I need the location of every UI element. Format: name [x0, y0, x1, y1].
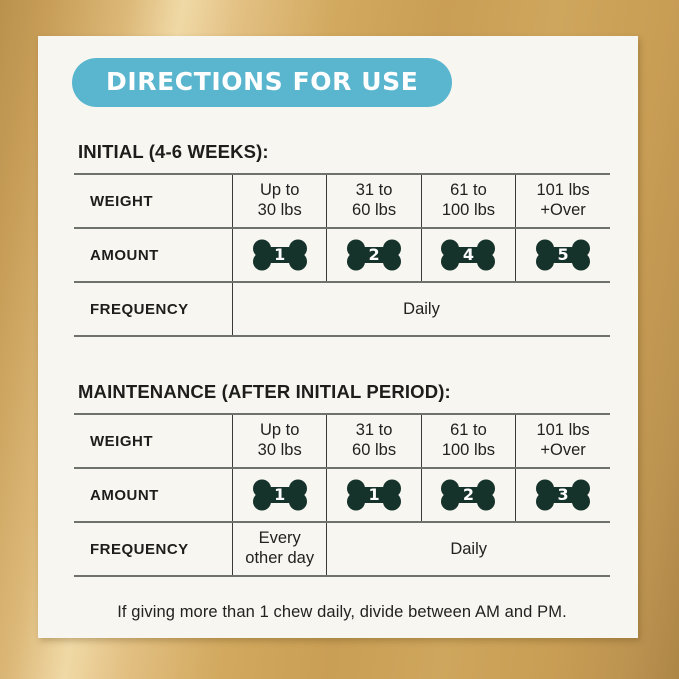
amount-cell-3: 4 — [421, 228, 515, 282]
row-label-amount: AMOUNT — [74, 228, 233, 282]
frequency-cell-rest: Daily — [327, 522, 610, 576]
weight-cell-4-line2: +Over — [516, 201, 610, 221]
table-row-weight: WEIGHT Up to 30 lbs 31 to 60 lbs 61 to 1… — [74, 414, 610, 468]
amount-cell-1: 1 — [233, 228, 327, 282]
weight-cell-2: 31 to 60 lbs — [327, 414, 421, 468]
amount-cell-2: 1 — [327, 468, 421, 522]
row-label-weight: WEIGHT — [74, 174, 233, 228]
bone-icon: 3 — [535, 479, 591, 511]
weight-cell-1: Up to 30 lbs — [233, 174, 327, 228]
amount-cell-2: 2 — [327, 228, 421, 282]
weight-cell-3-line2: 100 lbs — [422, 201, 515, 221]
weight-cell-2-line1: 31 to — [327, 181, 420, 201]
amount-cell-4: 5 — [516, 228, 610, 282]
frequency-cell-1-line1: Every — [233, 529, 326, 549]
dosing-table-initial: WEIGHT Up to 30 lbs 31 to 60 lbs 61 to 1… — [74, 173, 610, 337]
weight-cell-3: 61 to 100 lbs — [421, 174, 515, 228]
bone-icon: 1 — [346, 479, 402, 511]
amount-cell-4: 3 — [516, 468, 610, 522]
bone-icon: 2 — [346, 239, 402, 271]
bone-icon: 1 — [252, 479, 308, 511]
frequency-cell-all: Daily — [233, 282, 611, 336]
frequency-cell-1-line2: other day — [233, 549, 326, 569]
weight-cell-3-line1: 61 to — [422, 421, 515, 441]
bone-icon: 4 — [440, 239, 496, 271]
row-label-amount: AMOUNT — [74, 468, 233, 522]
weight-cell-1-line2: 30 lbs — [233, 441, 326, 461]
table-row-amount: AMOUNT 1 — [74, 228, 610, 282]
frequency-cell-1: Every other day — [233, 522, 327, 576]
weight-cell-2-line2: 60 lbs — [327, 201, 420, 221]
directions-card: DIRECTIONS FOR USE INITIAL (4-6 WEEKS): … — [38, 36, 638, 638]
footnote-text: If giving more than 1 chew daily, divide… — [72, 603, 612, 622]
weight-cell-4: 101 lbs +Over — [516, 414, 610, 468]
amount-cell-3: 2 — [421, 468, 515, 522]
gold-bordered-frame: DIRECTIONS FOR USE INITIAL (4-6 WEEKS): … — [0, 0, 679, 679]
amount-cell-1: 1 — [233, 468, 327, 522]
weight-cell-2-line1: 31 to — [327, 421, 420, 441]
weight-cell-4-line1: 101 lbs — [516, 421, 610, 441]
weight-cell-3-line2: 100 lbs — [422, 441, 515, 461]
table-row-frequency: FREQUENCY Every other day Daily — [74, 522, 610, 576]
amount-value: 1 — [252, 239, 308, 271]
table-row-weight: WEIGHT Up to 30 lbs 31 to 60 lbs 61 to 1… — [74, 174, 610, 228]
row-label-weight: WEIGHT — [74, 414, 233, 468]
weight-cell-4-line1: 101 lbs — [516, 181, 610, 201]
section-heading-maintenance: MAINTENANCE (AFTER INITIAL PERIOD): — [78, 381, 612, 403]
table-row-amount: AMOUNT 1 — [74, 468, 610, 522]
weight-cell-1-line2: 30 lbs — [233, 201, 326, 221]
weight-cell-1-line1: Up to — [233, 181, 326, 201]
amount-value: 1 — [252, 479, 308, 511]
weight-cell-2-line2: 60 lbs — [327, 441, 420, 461]
bone-icon: 5 — [535, 239, 591, 271]
bone-icon: 1 — [252, 239, 308, 271]
weight-cell-4-line2: +Over — [516, 441, 610, 461]
table-row-frequency: FREQUENCY Daily — [74, 282, 610, 336]
weight-cell-1-line1: Up to — [233, 421, 326, 441]
amount-value: 5 — [535, 239, 591, 271]
bone-icon: 2 — [440, 479, 496, 511]
row-label-frequency: FREQUENCY — [74, 522, 233, 576]
row-label-frequency: FREQUENCY — [74, 282, 233, 336]
weight-cell-2: 31 to 60 lbs — [327, 174, 421, 228]
amount-value: 2 — [346, 239, 402, 271]
dosing-table-maintenance: WEIGHT Up to 30 lbs 31 to 60 lbs 61 to 1… — [74, 413, 610, 577]
weight-cell-1: Up to 30 lbs — [233, 414, 327, 468]
amount-value: 2 — [440, 479, 496, 511]
weight-cell-3: 61 to 100 lbs — [421, 414, 515, 468]
section-heading-initial: INITIAL (4-6 WEEKS): — [78, 141, 612, 163]
page-title: DIRECTIONS FOR USE — [72, 58, 452, 107]
amount-value: 1 — [346, 479, 402, 511]
amount-value: 3 — [535, 479, 591, 511]
weight-cell-4: 101 lbs +Over — [516, 174, 610, 228]
amount-value: 4 — [440, 239, 496, 271]
weight-cell-3-line1: 61 to — [422, 181, 515, 201]
